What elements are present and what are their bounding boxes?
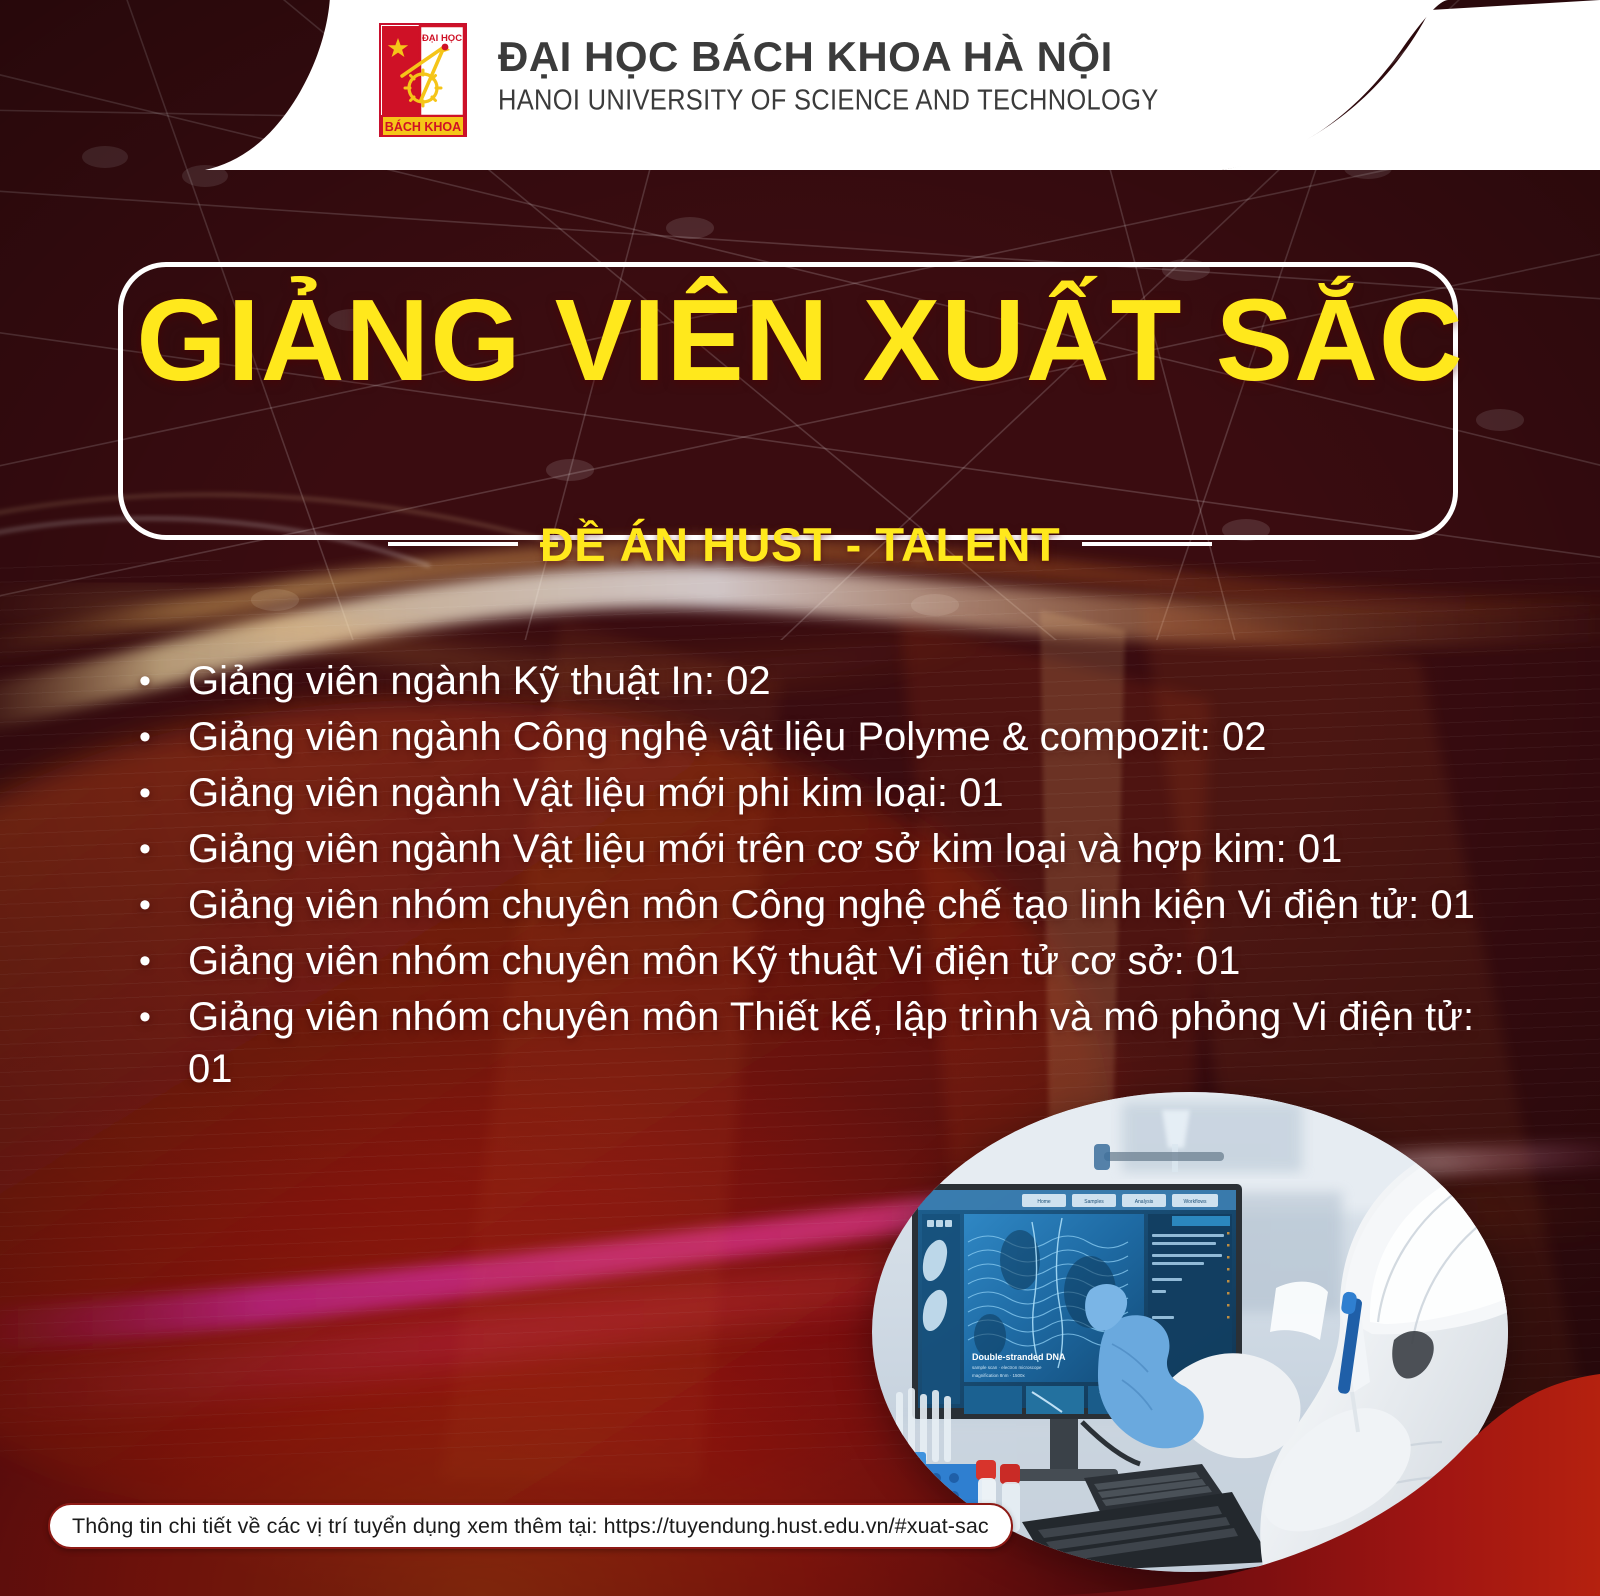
svg-text:Samples: Samples (1084, 1199, 1104, 1205)
poster-root: ĐẠI HỌC (0, 0, 1600, 1596)
svg-text:Analysis: Analysis (1135, 1199, 1154, 1205)
list-item-label: Giảng viên nhóm chuyên môn Kỹ thuật Vi đ… (188, 935, 1506, 987)
list-item-label: Giảng viên ngành Vật liệu mới phi kim lo… (188, 767, 1506, 819)
bullet-dot-icon: • (130, 823, 188, 875)
bullet-dot-icon: • (130, 935, 188, 987)
svg-text:Double-stranded DNA: Double-stranded DNA (972, 1352, 1066, 1362)
list-item: • Giảng viên nhóm chuyên môn Công nghệ c… (130, 879, 1530, 931)
university-name-vi: ĐẠI HỌC BÁCH KHOA HÀ NỘI (498, 36, 1159, 78)
subtitle-rule-left (388, 542, 518, 546)
list-item: • Giảng viên ngành Công nghệ vật liệu Po… (130, 711, 1530, 763)
university-name-en: HANOI UNIVERSITY OF SCIENCE AND TECHNOLO… (498, 87, 1159, 116)
svg-text:Workflows: Workflows (1184, 1199, 1207, 1205)
list-item-label: Giảng viên ngành Công nghệ vật liệu Poly… (188, 711, 1506, 763)
list-item-label: Giảng viên nhóm chuyên môn Công nghệ chế… (188, 879, 1506, 931)
bullet-dot-icon: • (130, 767, 188, 819)
subtitle-rule-right (1082, 542, 1212, 546)
footer-link-text: Thông tin chi tiết về các vị trí tuyển d… (72, 1514, 989, 1539)
university-branding: ĐẠI HỌC BÁCH KHOA HÀ NỘI HANOI UNIVERSIT… (498, 36, 1159, 113)
subtitle-row: ĐỀ ÁN HUST - TALENT (0, 513, 1600, 575)
list-item: • Giảng viên ngành Vật liệu mới phi kim … (130, 767, 1530, 819)
bullet-dot-icon: • (130, 711, 188, 763)
svg-text:ĐẠI HỌC: ĐẠI HỌC (422, 33, 462, 44)
bullet-dot-icon: • (130, 655, 188, 707)
page-subtitle: ĐỀ ÁN HUST - TALENT (540, 517, 1060, 572)
list-item-label: Giảng viên nhóm chuyên môn Thiết kế, lập… (188, 991, 1506, 1095)
hust-logo: ĐẠI HỌC (378, 22, 468, 138)
svg-text:Home: Home (1037, 1199, 1051, 1205)
bottom-curve-overlay (0, 1366, 1600, 1596)
bullet-dot-icon: • (130, 991, 188, 1043)
list-item: • Giảng viên nhóm chuyên môn Thiết kế, l… (130, 991, 1530, 1095)
list-item-label: Giảng viên ngành Kỹ thuật In: 02 (188, 655, 1506, 707)
page-title: GIẢNG VIÊN XUẤT SẮC (0, 272, 1600, 409)
positions-list: • Giảng viên ngành Kỹ thuật In: 02 • Giả… (130, 655, 1530, 1099)
svg-text:BÁCH KHOA: BÁCH KHOA (385, 119, 461, 134)
list-item: • Giảng viên ngành Kỹ thuật In: 02 (130, 655, 1530, 707)
footer-link-pill[interactable]: Thông tin chi tiết về các vị trí tuyển d… (48, 1503, 1013, 1549)
bullet-dot-icon: • (130, 879, 188, 931)
list-item-label: Giảng viên ngành Vật liệu mới trên cơ sở… (188, 823, 1506, 875)
list-item: • Giảng viên ngành Vật liệu mới trên cơ … (130, 823, 1530, 875)
list-item: • Giảng viên nhóm chuyên môn Kỹ thuật Vi… (130, 935, 1530, 987)
